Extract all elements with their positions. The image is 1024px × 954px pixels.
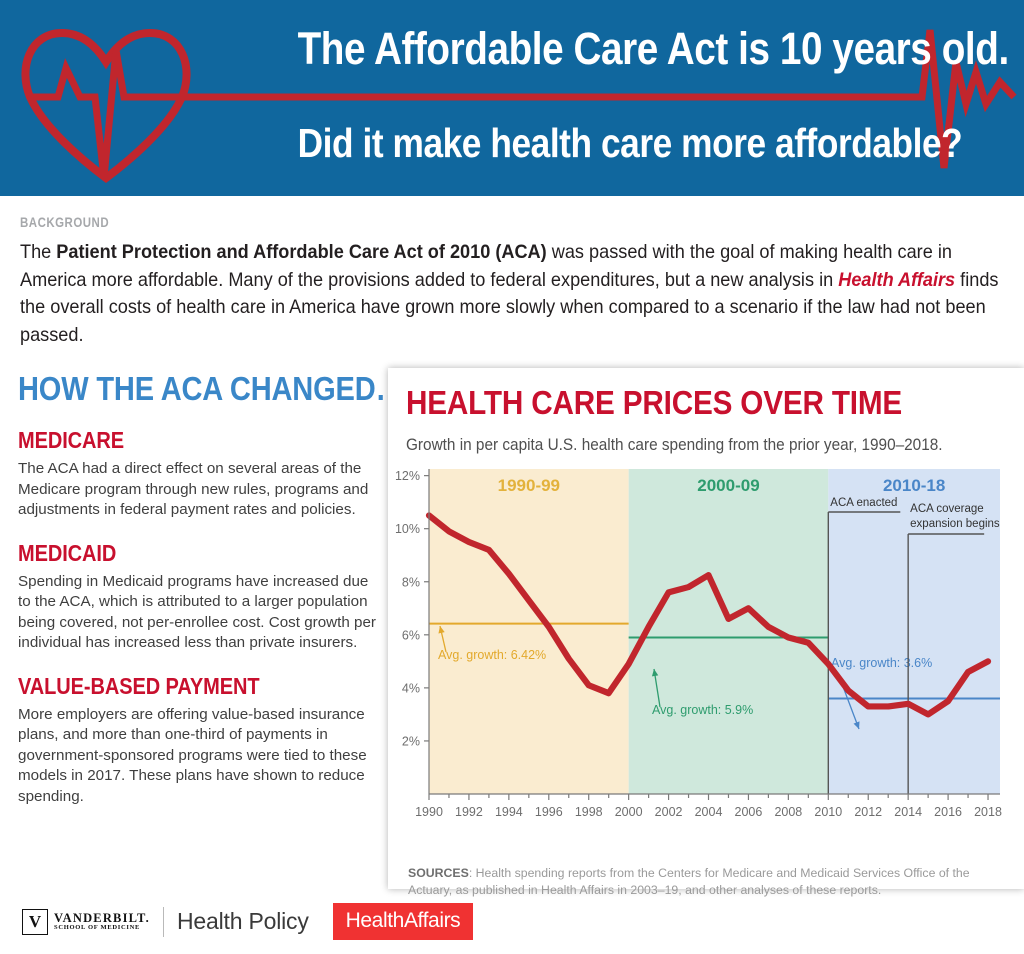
header-banner: The Affordable Care Act is 10 years old.… xyxy=(0,0,1024,196)
left-column-heading: HOW THE ACA CHANGED… xyxy=(18,370,335,408)
y-tick-label: 6% xyxy=(402,628,420,642)
x-tick-label: 2018 xyxy=(974,805,1002,819)
x-tick-label: 2012 xyxy=(854,805,882,819)
vanderbilt-subname: SCHOOL OF MEDICINE xyxy=(54,925,150,932)
chart-sources: SOURCES: Health spending reports from th… xyxy=(408,865,1000,899)
event-label: ACA enacted xyxy=(830,497,897,509)
bg-text-pre: The xyxy=(20,241,56,263)
x-tick-label: 1990 xyxy=(415,805,443,819)
x-tick-label: 1992 xyxy=(455,805,483,819)
bg-text-italic: Health Affairs xyxy=(838,269,955,291)
section-medicare-title: MEDICARE xyxy=(18,427,331,454)
header-title-line2: Did it make health care more affordable? xyxy=(298,123,883,165)
band-rect xyxy=(629,469,829,794)
x-tick-label: 1996 xyxy=(535,805,563,819)
section-medicaid: MEDICAID Spending in Medicaid programs h… xyxy=(18,540,378,654)
chart-band-2000-09: 2000-09 xyxy=(629,469,829,794)
health-policy-label: Health Policy xyxy=(177,908,309,935)
band-label: 1990-99 xyxy=(498,476,560,495)
x-tick-label: 2004 xyxy=(695,805,723,819)
section-value-based-payment-body: More employers are offering value-based … xyxy=(18,705,380,808)
vanderbilt-shield-icon: V xyxy=(22,909,48,935)
avg-growth-label: Avg. growth: 3.6% xyxy=(831,656,932,670)
header-title-line1: The Affordable Care Act is 10 years old. xyxy=(298,26,883,72)
sources-label: SOURCES xyxy=(408,866,469,880)
chart-band-1990-99: 1990-99 xyxy=(429,469,629,794)
y-tick-label: 2% xyxy=(402,734,420,748)
background-paragraph: The Patient Protection and Affordable Ca… xyxy=(20,239,1006,350)
chart-subtitle: Growth in per capita U.S. health care sp… xyxy=(406,436,943,455)
vanderbilt-name: VANDERBILT. xyxy=(54,912,150,925)
line-chart: 1990-992000-092010-18Avg. growth: 6.42%A… xyxy=(388,464,1024,852)
band-rect xyxy=(429,469,629,794)
band-label: 2000-09 xyxy=(697,476,759,495)
y-tick-label: 12% xyxy=(395,469,420,483)
event-label-line1: ACA coverage xyxy=(910,503,984,515)
chart-panel: HEALTH CARE PRICES OVER TIME Growth in p… xyxy=(388,368,1024,889)
x-tick-label: 2002 xyxy=(655,805,683,819)
section-medicaid-title: MEDICAID xyxy=(18,540,331,567)
left-column: HOW THE ACA CHANGED… MEDICARE The ACA ha… xyxy=(18,370,378,807)
section-medicare-body: The ACA had a direct effect on several a… xyxy=(18,459,380,521)
section-medicaid-body: Spending in Medicaid programs have incre… xyxy=(18,572,380,654)
x-tick-label: 2016 xyxy=(934,805,962,819)
x-tick-label: 2008 xyxy=(774,805,802,819)
background-section: BACKGROUND The Patient Protection and Af… xyxy=(20,214,1010,350)
sources-text: : Health spending reports from the Cente… xyxy=(408,866,970,897)
x-tick-label: 2010 xyxy=(814,805,842,819)
x-tick-label: 1998 xyxy=(575,805,603,819)
avg-growth-label: Avg. growth: 6.42% xyxy=(438,648,546,662)
background-kicker: BACKGROUND xyxy=(20,214,832,230)
bg-text-bold: Patient Protection and Affordable Care A… xyxy=(56,241,546,263)
footer-divider xyxy=(163,907,164,937)
chart-title: HEALTH CARE PRICES OVER TIME xyxy=(406,384,902,422)
avg-growth-label: Avg. growth: 5.9% xyxy=(652,703,753,717)
y-tick-label: 4% xyxy=(402,681,420,695)
vanderbilt-wordmark: VANDERBILT. SCHOOL OF MEDICINE xyxy=(54,912,150,931)
event-label-line2: expansion begins xyxy=(910,518,1000,530)
y-tick-label: 10% xyxy=(395,522,420,536)
section-medicare: MEDICARE The ACA had a direct effect on … xyxy=(18,427,378,521)
x-tick-label: 2006 xyxy=(735,805,763,819)
health-affairs-logo: HealthAffairs xyxy=(333,903,474,940)
x-tick-label: 1994 xyxy=(495,805,523,819)
footer-logos: V VANDERBILT. SCHOOL OF MEDICINE Health … xyxy=(22,903,473,940)
x-tick-label: 2000 xyxy=(615,805,643,819)
section-value-based-payment: VALUE-BASED PAYMENT More employers are o… xyxy=(18,673,378,808)
band-label: 2010-18 xyxy=(883,476,945,495)
y-tick-label: 8% xyxy=(402,575,420,589)
x-tick-label: 2014 xyxy=(894,805,922,819)
section-value-based-payment-title: VALUE-BASED PAYMENT xyxy=(18,673,331,700)
